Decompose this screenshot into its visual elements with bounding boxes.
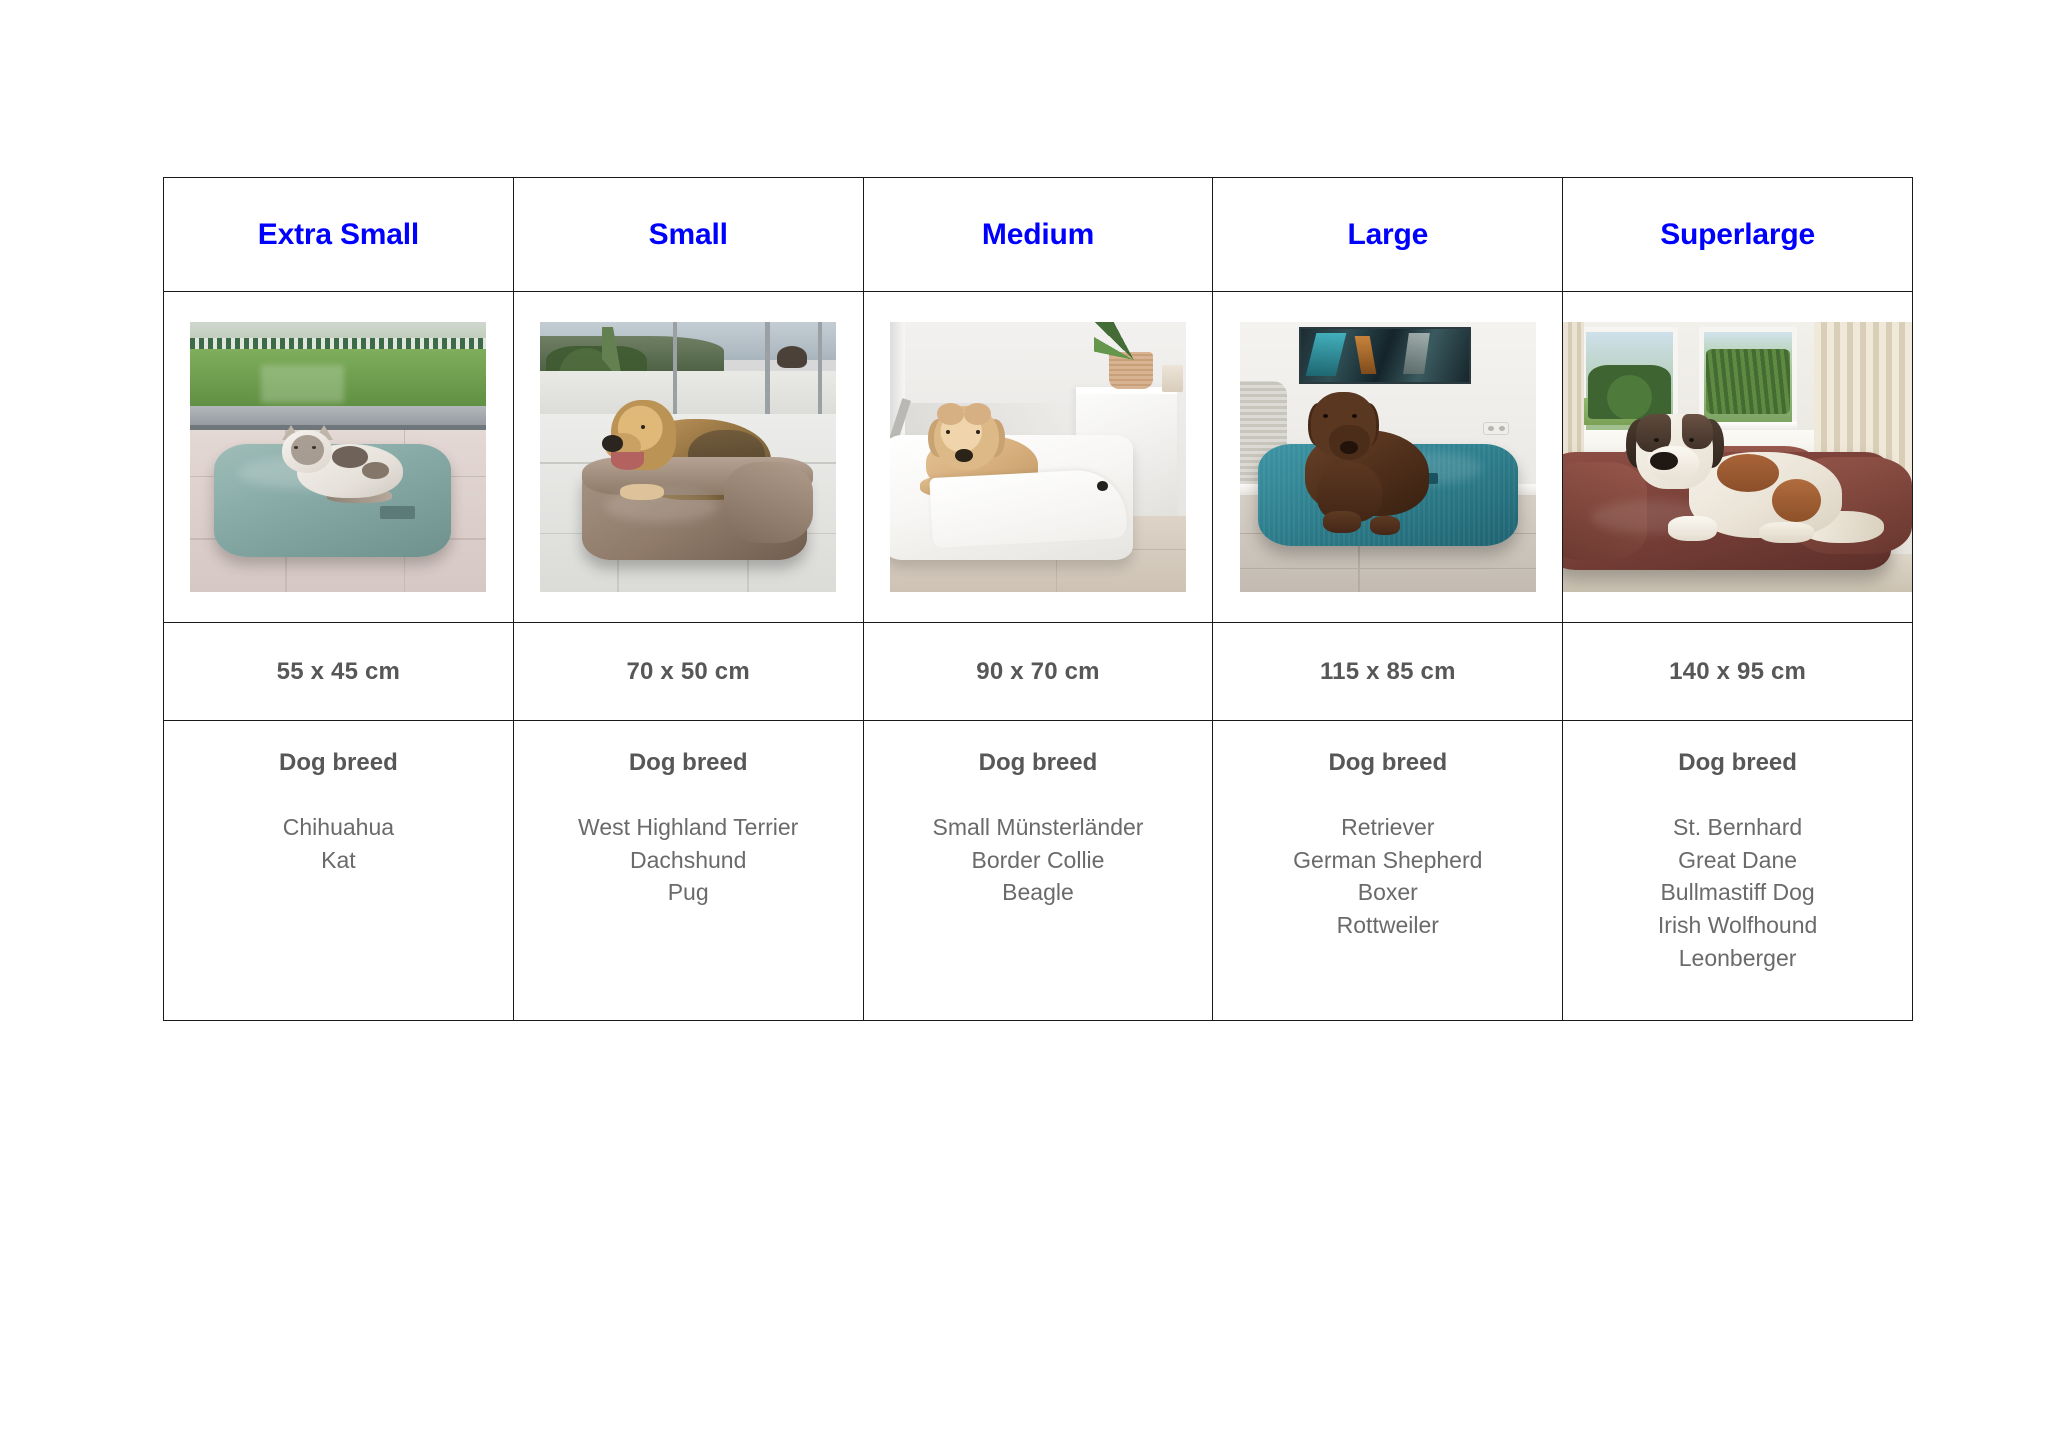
table-row-breeds: Dog breed ChihuahuaKat Dog breed West Hi… [164,721,1913,1021]
breed-title-superlarge: Dog breed [1563,749,1912,777]
breed-item: German Shepherd [1213,844,1562,877]
brand-tag [380,506,416,520]
breed-title-extra-small: Dog breed [164,749,513,777]
breed-title-small: Dog breed [514,749,863,777]
size-header-superlarge: Superlarge [1563,218,1912,251]
breed-item: Great Dane [1563,844,1912,877]
breed-item: Rottweiler [1213,909,1562,942]
product-photo-large [1240,322,1536,592]
photo-cell-superlarge [1563,292,1913,623]
breed-item: Dachshund [514,844,863,877]
photo-cell-large [1213,292,1563,623]
dimensions-extra-small: 55 x 45 cm [164,658,513,686]
size-header-large: Large [1213,218,1562,251]
table-row-dimensions: 55 x 45 cm 70 x 50 cm 90 x 70 cm 115 x 8… [164,623,1913,721]
table-row-photos [164,292,1913,623]
breeds-cell-extra-small: Dog breed ChihuahuaKat [164,721,514,1021]
dimensions-cell-superlarge: 140 x 95 cm [1563,623,1913,721]
photo-cell-small [513,292,863,623]
breed-item: Kat [164,844,513,877]
dimensions-medium: 90 x 70 cm [864,658,1213,686]
product-photo-small [540,322,836,592]
table-row-headers: Extra Small Small Medium Large Superlarg… [164,178,1913,292]
size-header-extra-small: Extra Small [164,218,513,251]
header-cell-medium: Medium [863,178,1213,292]
house-plant [1094,322,1177,360]
breeds-cell-large: Dog breed RetrieverGerman ShepherdBoxerR… [1213,721,1563,1021]
breeds-cell-medium: Dog breed Small MünsterländerBorder Coll… [863,721,1213,1021]
dimensions-small: 70 x 50 cm [514,658,863,686]
breed-list-superlarge: St. BernhardGreat DaneBullmastiff DogIri… [1563,811,1912,974]
breed-item: Boxer [1213,876,1562,909]
breed-title-medium: Dog breed [864,749,1213,777]
size-header-medium: Medium [864,218,1213,251]
product-photo-extra-small [190,322,486,592]
header-cell-large: Large [1213,178,1563,292]
breeds-cell-small: Dog breed West Highland TerrierDachshund… [513,721,863,1021]
breed-item: Leonberger [1563,942,1912,975]
dog-bed-size-table: Extra Small Small Medium Large Superlarg… [163,177,1913,1021]
power-socket [1483,422,1510,436]
breed-list-extra-small: ChihuahuaKat [164,811,513,876]
product-photo-medium [890,322,1186,592]
breed-list-large: RetrieverGerman ShepherdBoxerRottweiler [1213,811,1562,942]
page-canvas: Extra Small Small Medium Large Superlarg… [0,0,2048,1448]
breed-item: West Highland Terrier [514,811,863,844]
header-cell-small: Small [513,178,863,292]
header-cell-superlarge: Superlarge [1563,178,1913,292]
breed-item: Beagle [864,876,1213,909]
breed-item: Chihuahua [164,811,513,844]
size-header-small: Small [514,218,863,251]
dimensions-superlarge: 140 x 95 cm [1563,658,1912,686]
dimensions-cell-medium: 90 x 70 cm [863,623,1213,721]
product-photo-superlarge [1563,322,1912,592]
photo-cell-medium [863,292,1213,623]
breed-title-large: Dog breed [1213,749,1562,777]
breeds-cell-superlarge: Dog breed St. BernhardGreat DaneBullmast… [1563,721,1913,1021]
breed-item: Small Münsterländer [864,811,1213,844]
breed-list-small: West Highland TerrierDachshundPug [514,811,863,909]
breed-item: Retriever [1213,811,1562,844]
breed-list-medium: Small MünsterländerBorder CollieBeagle [864,811,1213,909]
dimensions-large: 115 x 85 cm [1213,658,1562,686]
dimensions-cell-small: 70 x 50 cm [513,623,863,721]
breed-item: Irish Wolfhound [1563,909,1912,942]
dimensions-cell-extra-small: 55 x 45 cm [164,623,514,721]
breed-item: St. Bernhard [1563,811,1912,844]
breed-item: Bullmastiff Dog [1563,876,1912,909]
header-cell-extra-small: Extra Small [164,178,514,292]
photo-cell-extra-small [164,292,514,623]
breed-item: Pug [514,876,863,909]
breed-item: Border Collie [864,844,1213,877]
dimensions-cell-large: 115 x 85 cm [1213,623,1563,721]
